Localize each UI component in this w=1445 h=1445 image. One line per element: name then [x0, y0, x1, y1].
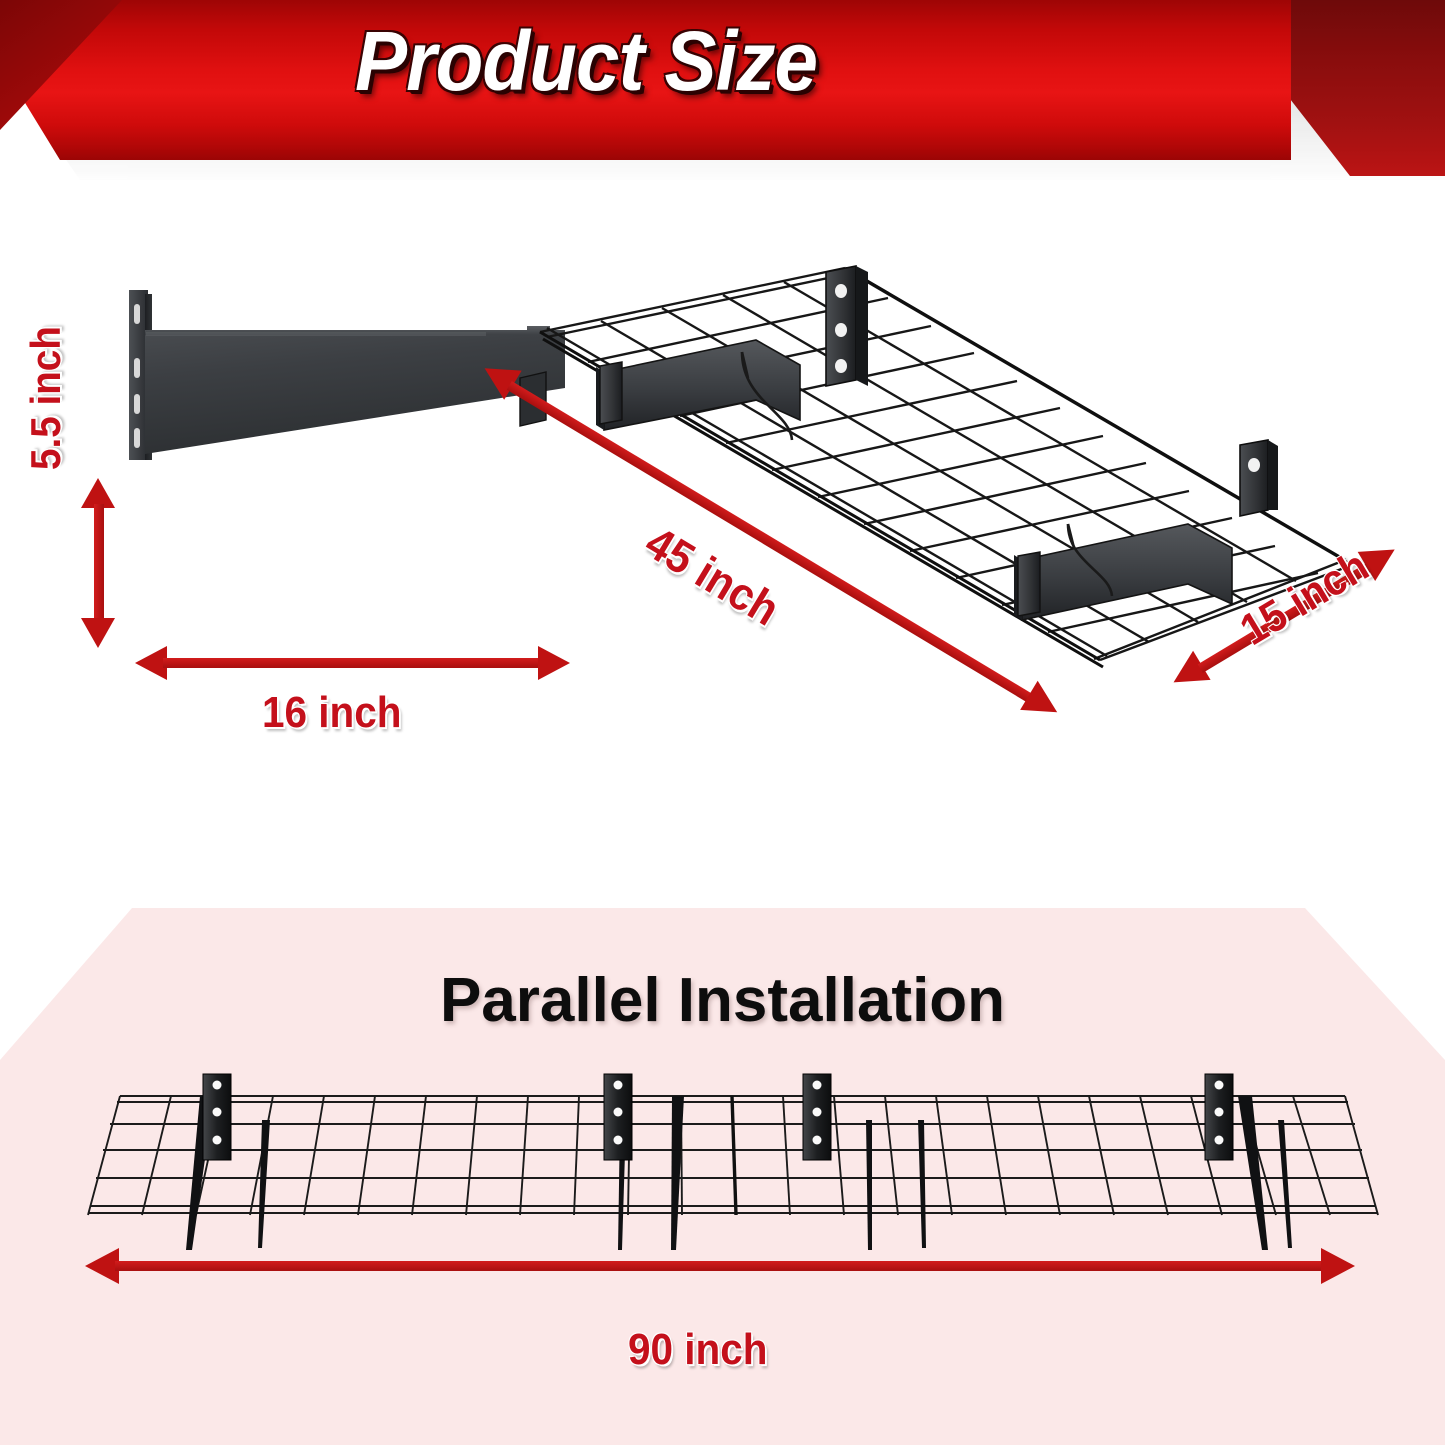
arrow-head-right: [538, 646, 570, 680]
header-banner: Product Size: [0, 0, 1445, 190]
dimension-label-bracket-length: 16 inch: [262, 688, 401, 738]
arrow-head-left: [85, 1248, 119, 1284]
bracket-illustration: [100, 290, 600, 470]
dimension-label-bracket-height: 5.5 inch: [22, 326, 70, 470]
arrow-shaft: [163, 658, 542, 668]
bracket-slot-4: [134, 428, 140, 448]
dimension-label-parallel-total-length: 90 inch: [628, 1325, 767, 1375]
bracket-slot-1: [134, 304, 140, 324]
dimension-arrow-16-inch: [135, 640, 570, 686]
arrow-shaft: [94, 504, 104, 624]
page-title: Product Size: [355, 13, 817, 110]
arrow-head-right: [1321, 1248, 1355, 1284]
bracket-slot-3: [134, 394, 140, 414]
arrow-head-bottom: [81, 618, 115, 648]
dimension-arrow-90-inch: [85, 1243, 1355, 1289]
arrow-shaft: [115, 1261, 1325, 1271]
bracket-slot-2: [134, 358, 140, 378]
parallel-installation-title: Parallel Installation: [0, 965, 1445, 1036]
bracket-arm-lip-highlight: [146, 332, 486, 336]
dimension-arrow-5-5-inch: [76, 478, 122, 648]
